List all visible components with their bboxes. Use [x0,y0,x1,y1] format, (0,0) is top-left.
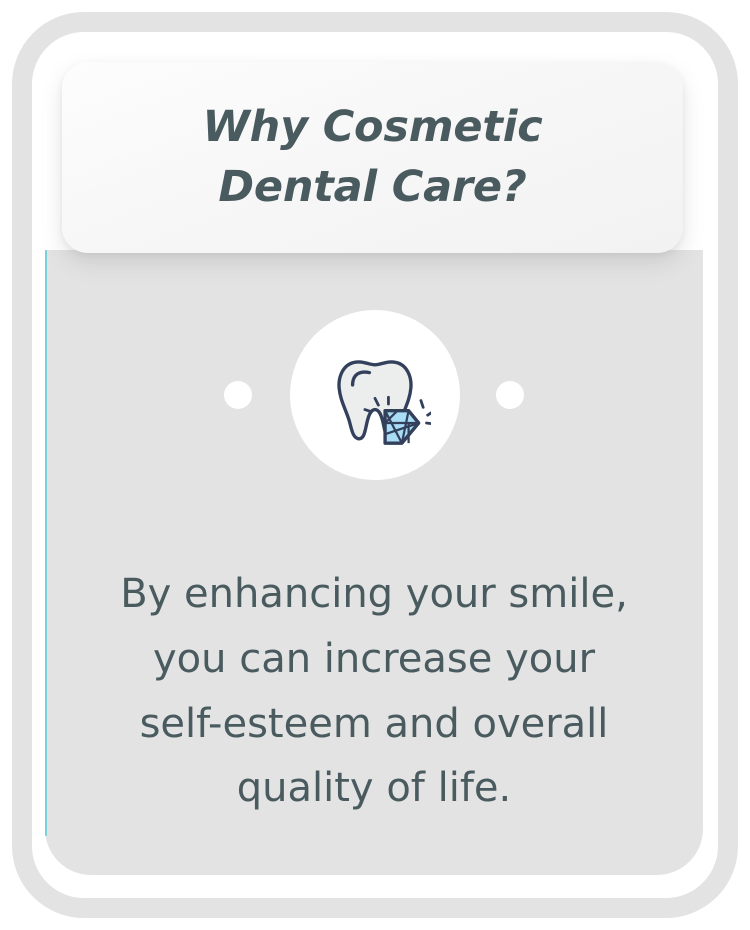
icon-zone [45,280,703,510]
decorative-dot-left [224,381,252,409]
header-card: Why Cosmetic Dental Care? [62,62,683,253]
page-title: Why Cosmetic Dental Care? [162,98,582,217]
tooth-with-diamond-icon [319,339,431,451]
decorative-dot-right [496,381,524,409]
icon-badge [290,310,460,480]
body-text: By enhancing your smile, you can increas… [45,562,703,821]
card-stage: By enhancing your smile, you can increas… [0,0,750,930]
